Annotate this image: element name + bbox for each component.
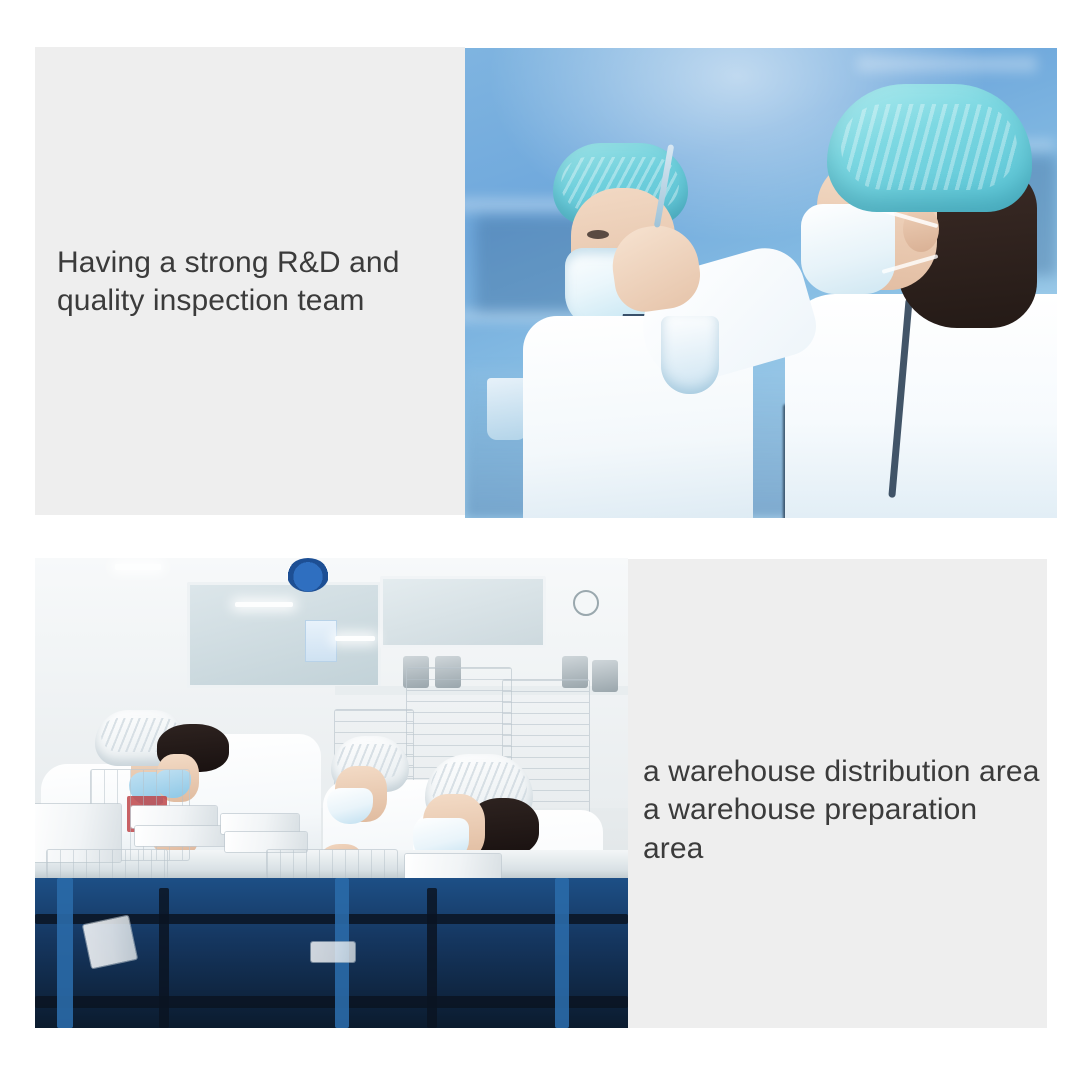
lab-background-shelf <box>857 56 1037 72</box>
carton-box <box>131 806 217 828</box>
technician-a-eye <box>587 230 609 239</box>
technician-b-hairnet <box>827 84 1032 212</box>
lab-beaker <box>487 378 527 440</box>
cleanroom-window <box>380 576 546 648</box>
lab-flask <box>661 316 719 394</box>
frame-leg <box>57 878 73 1028</box>
carton-box <box>225 832 307 852</box>
warehouse-packing-photo <box>35 558 628 1028</box>
wall-notice-board <box>305 620 337 662</box>
carton-box <box>135 826 227 846</box>
ceiling-light <box>235 602 293 607</box>
technician-b-ear <box>903 206 939 252</box>
under-table-carton <box>311 942 355 962</box>
frame-beam <box>159 888 169 1028</box>
under-table-carton <box>83 916 137 969</box>
frame-leg <box>555 878 569 1028</box>
company-logo-icon <box>287 558 329 592</box>
carton-box <box>221 814 299 834</box>
ceiling-light <box>335 636 375 641</box>
frame-beam <box>427 888 437 1028</box>
technician-b-lab-coat <box>785 294 1057 518</box>
cleanroom-window <box>187 582 381 688</box>
frame-beam <box>35 996 628 1008</box>
technician-b-face-mask <box>801 204 895 294</box>
lab-quality-inspection-photo <box>465 48 1057 518</box>
ceiling-light <box>115 564 161 570</box>
wall-clock-icon <box>573 590 599 616</box>
warehouse-caption: a warehouse distribution area a warehous… <box>643 753 1043 868</box>
rnd-quality-caption: Having a strong R&D and quality inspecti… <box>57 244 457 321</box>
steel-container <box>592 660 618 692</box>
